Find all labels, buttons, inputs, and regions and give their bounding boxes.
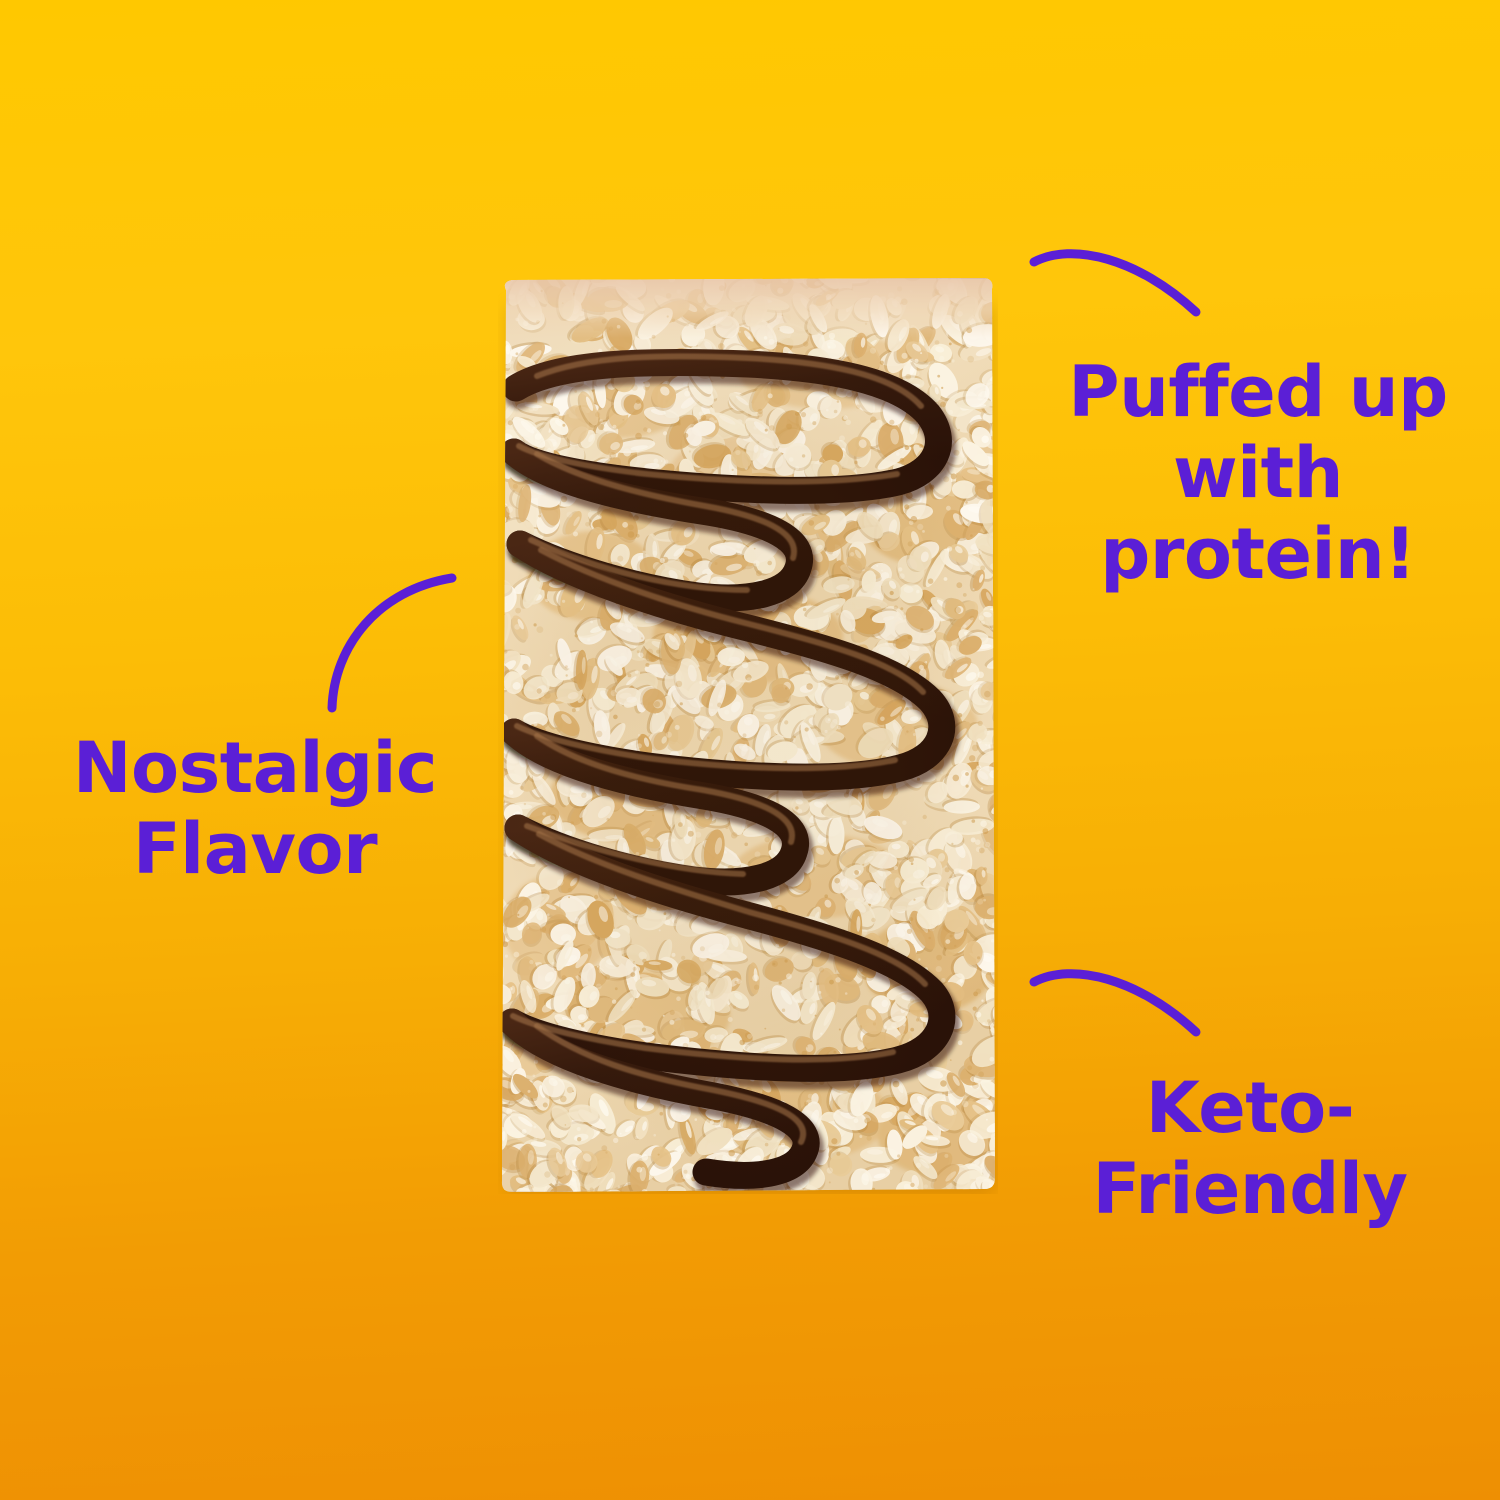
arrow-curve-nostalgic-icon — [318, 562, 468, 712]
arrow-curve-keto-icon — [1020, 960, 1220, 1055]
bar-vignette — [498, 276, 998, 1194]
arrow-curve-protein-icon — [1020, 240, 1220, 335]
callout-puffed-up-with-protein: Puffed up with protein! — [1058, 352, 1458, 595]
bar-body — [498, 276, 998, 1194]
crispy-rice-protein-bar-illustration — [498, 276, 998, 1194]
product-bar — [498, 276, 998, 1194]
callout-nostalgic-flavor: Nostalgic Flavor — [60, 728, 450, 890]
callout-keto-friendly: Keto- Friendly — [1050, 1068, 1450, 1230]
product-image-canvas: Puffed up with protein! Nostalgic Flavor… — [0, 0, 1500, 1500]
